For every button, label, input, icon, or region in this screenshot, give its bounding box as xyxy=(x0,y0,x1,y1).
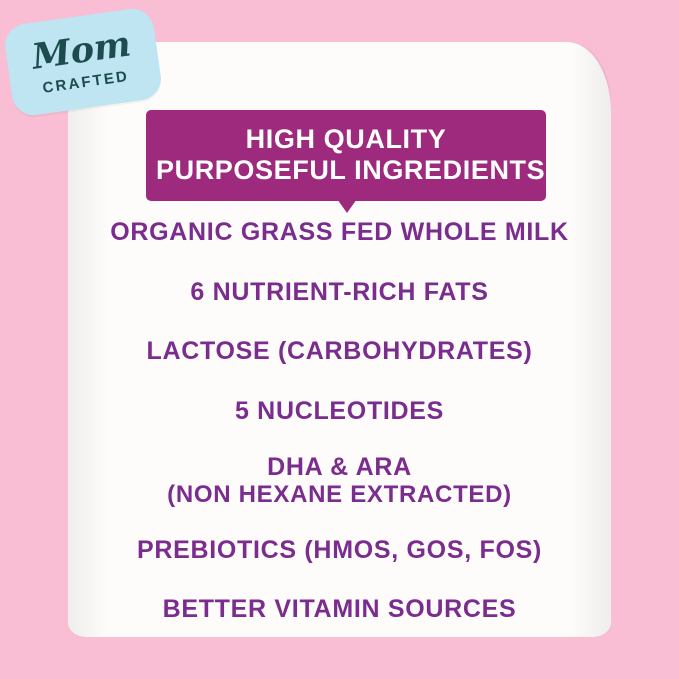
product-graphic: Mom CRAFTED HIGH QUALITY PURPOSEFUL INGR… xyxy=(0,0,679,679)
header-banner: HIGH QUALITY PURPOSEFUL INGREDIENTS xyxy=(146,110,546,201)
ingredients-list: ORGANIC GRASS FED WHOLE MILK 6 NUTRIENT-… xyxy=(68,218,611,625)
list-item-main: DHA & ARA xyxy=(267,453,412,481)
banner-line-2: PURPOSEFUL INGREDIENTS xyxy=(156,155,536,186)
banner-pointer-icon xyxy=(330,189,364,213)
list-item: PREBIOTICS (HMOS, GOS, FOS) xyxy=(137,536,542,566)
badge-mom-text: Mom xyxy=(30,26,133,74)
banner-line-1: HIGH QUALITY xyxy=(156,124,536,155)
list-item: LACTOSE (CARBOHYDRATES) xyxy=(146,337,532,367)
list-item-subtext: (NON HEXANE EXTRACTED) xyxy=(167,482,512,508)
list-item: DHA & ARA (NON HEXANE EXTRACTED) xyxy=(167,454,512,508)
list-item: BETTER VITAMIN SOURCES xyxy=(163,595,517,625)
list-item: ORGANIC GRASS FED WHOLE MILK xyxy=(110,218,568,248)
list-item: 6 NUTRIENT-RICH FATS xyxy=(190,278,488,308)
list-item: 5 NUCLEOTIDES xyxy=(235,397,444,427)
